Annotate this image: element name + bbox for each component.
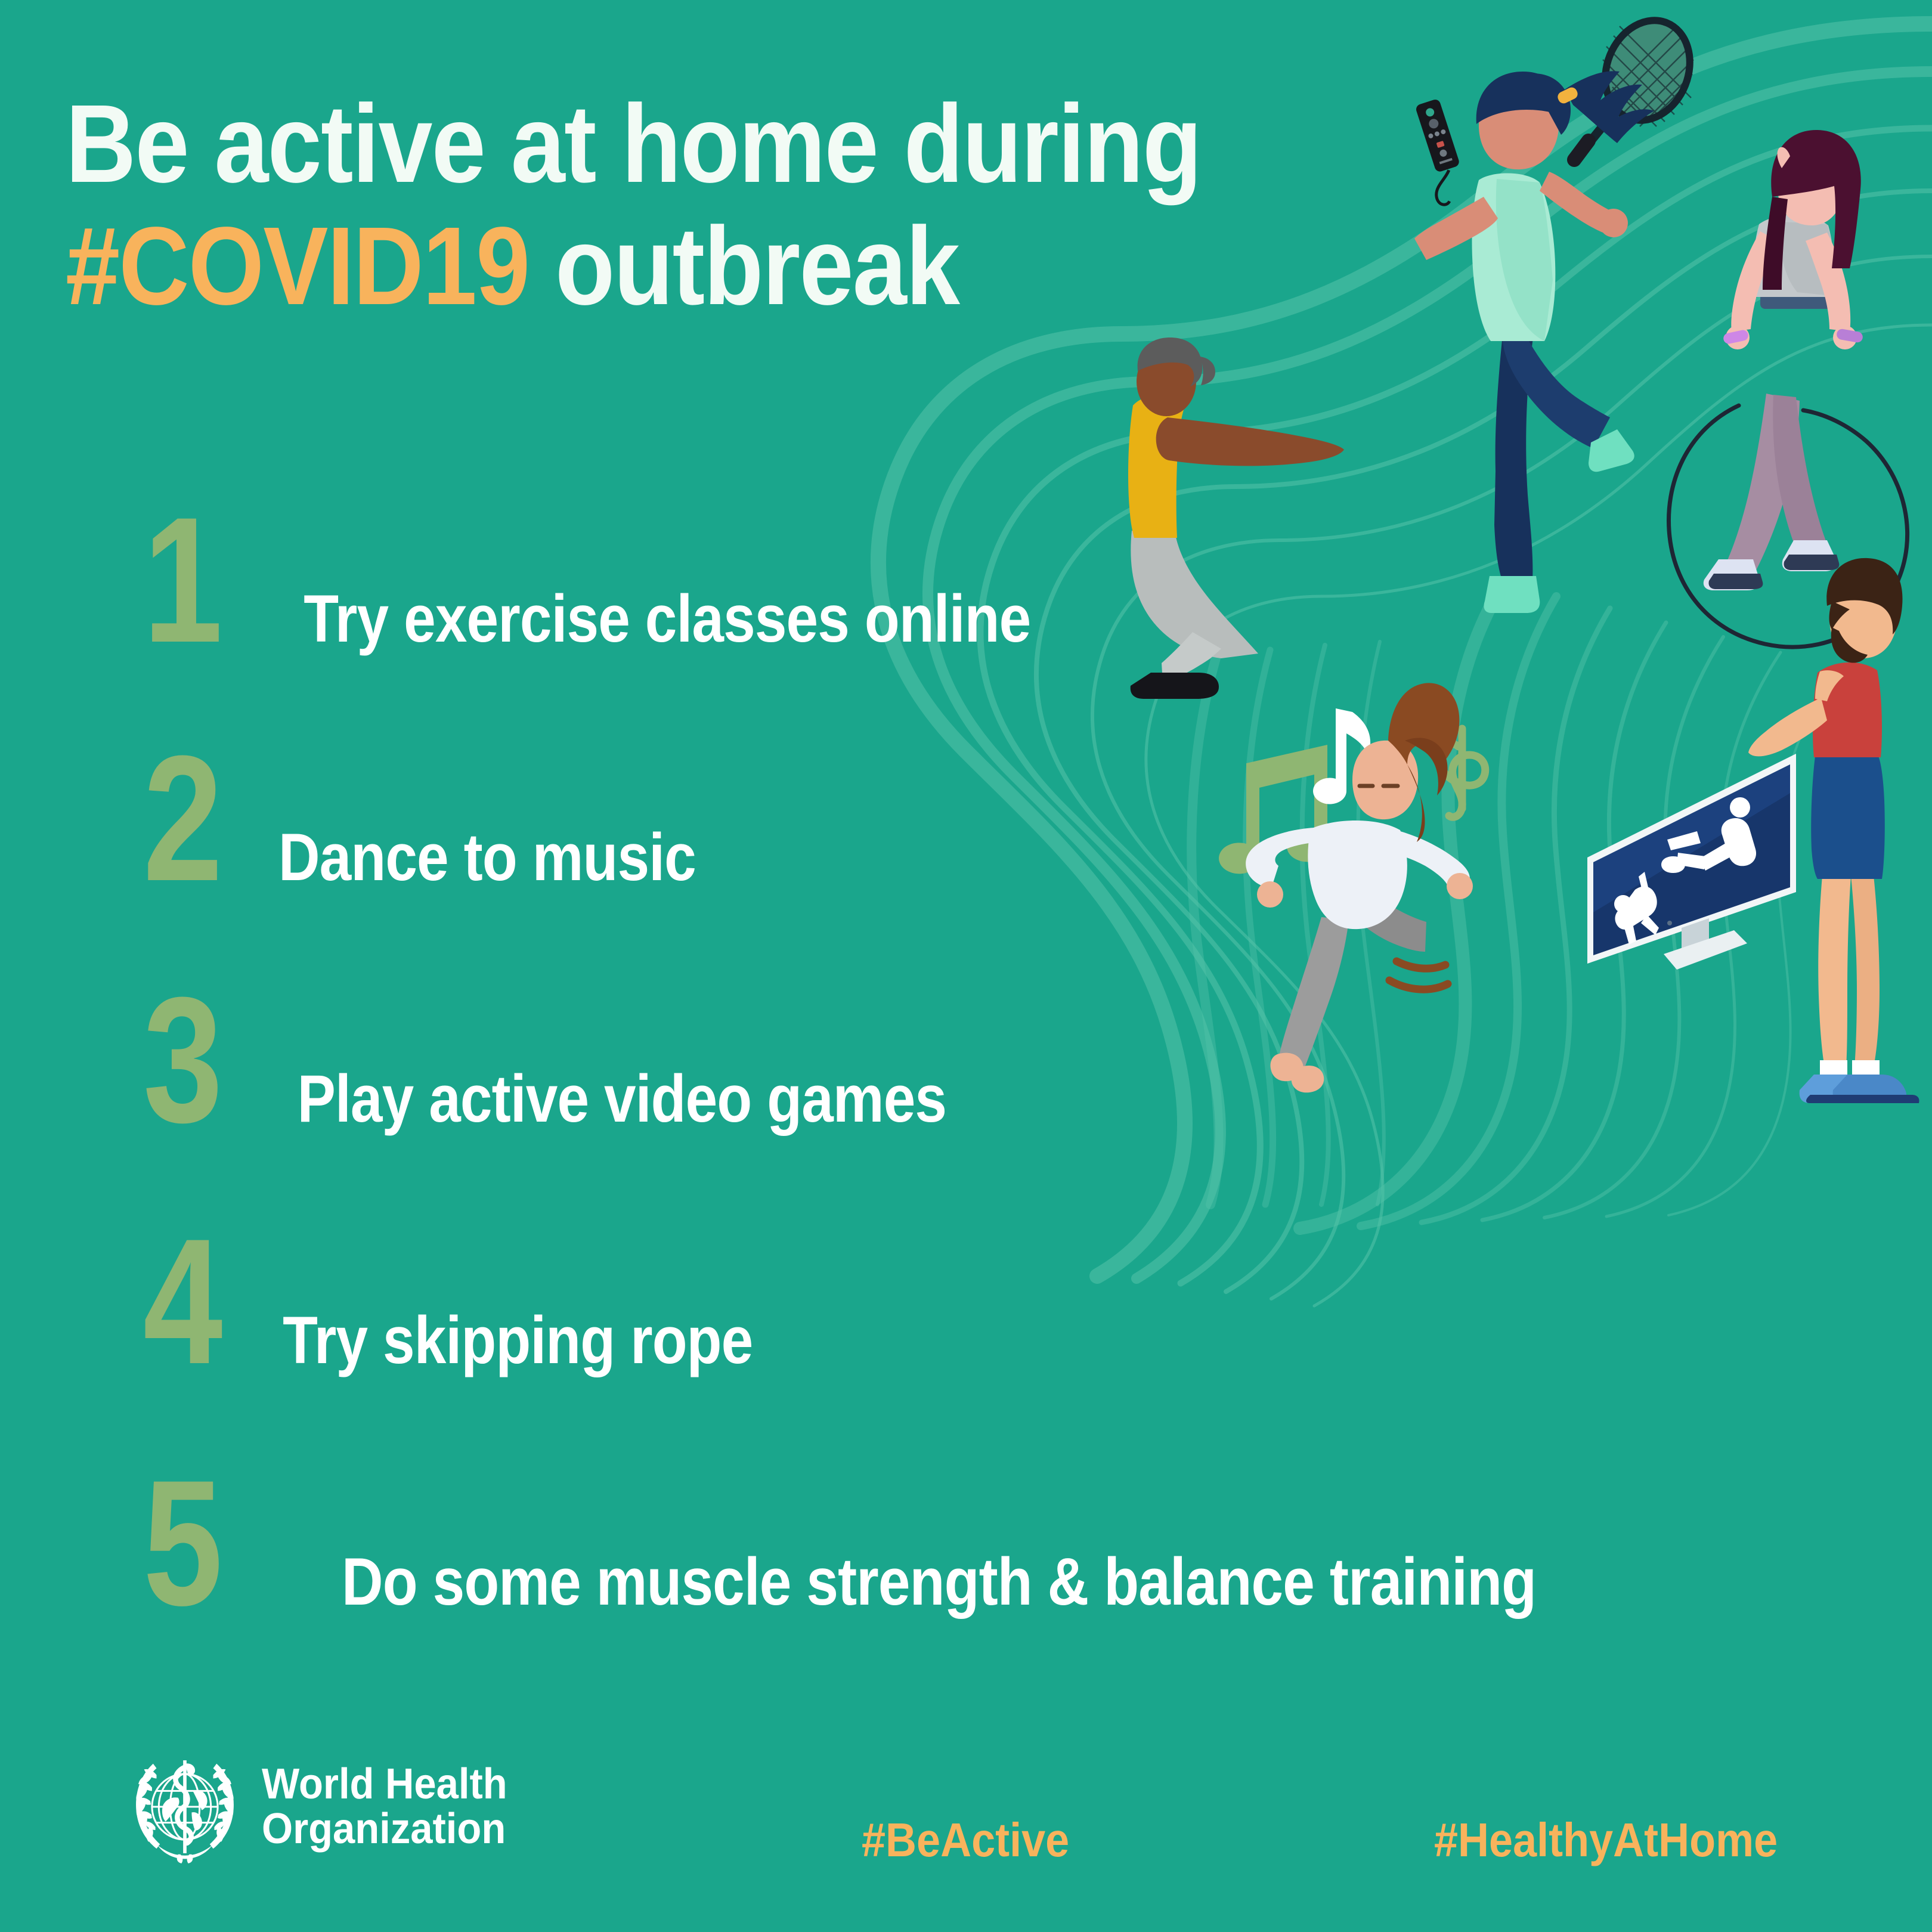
tip-label: Try skipping rope [283,1307,753,1374]
who-emblem-icon [128,1750,241,1863]
who-be-active-poster: Be active at home during #COVID19 outbre… [0,0,1932,1932]
list-item: 1 Try exercise classes online [143,510,1090,652]
who-name-line-2: Organization [262,1807,507,1851]
tip-label: Do some muscle strength & balance traini… [342,1549,1536,1615]
list-item: 3 Play active video games [143,990,999,1132]
hashtag-beactive[interactable]: #BeActive [862,1813,1069,1868]
list-item: 5 Do some muscle strength & balance trai… [143,1473,1633,1615]
tip-number: 2 [143,748,224,888]
tip-label: Dance to music [278,824,696,891]
tip-number: 1 [143,510,224,649]
list-item: 4 Try skipping rope [143,1231,791,1374]
who-logo-block: World Health Organization [128,1750,526,1863]
who-organization-name: World Health Organization [262,1762,507,1851]
tip-number: 3 [143,990,224,1129]
tip-label: Try exercise classes online [304,586,1030,652]
who-name-line-1: World Health [262,1762,507,1807]
hashtag-healthyathome[interactable]: #HealthyAtHome [1434,1813,1778,1868]
tip-label: Play active video games [298,1066,947,1132]
tip-number: 4 [143,1231,224,1371]
list-item: 2 Dance to music [143,748,730,891]
tips-list: 1 Try exercise classes online 2 Dance to… [0,0,1932,1932]
tip-number: 5 [143,1473,224,1612]
